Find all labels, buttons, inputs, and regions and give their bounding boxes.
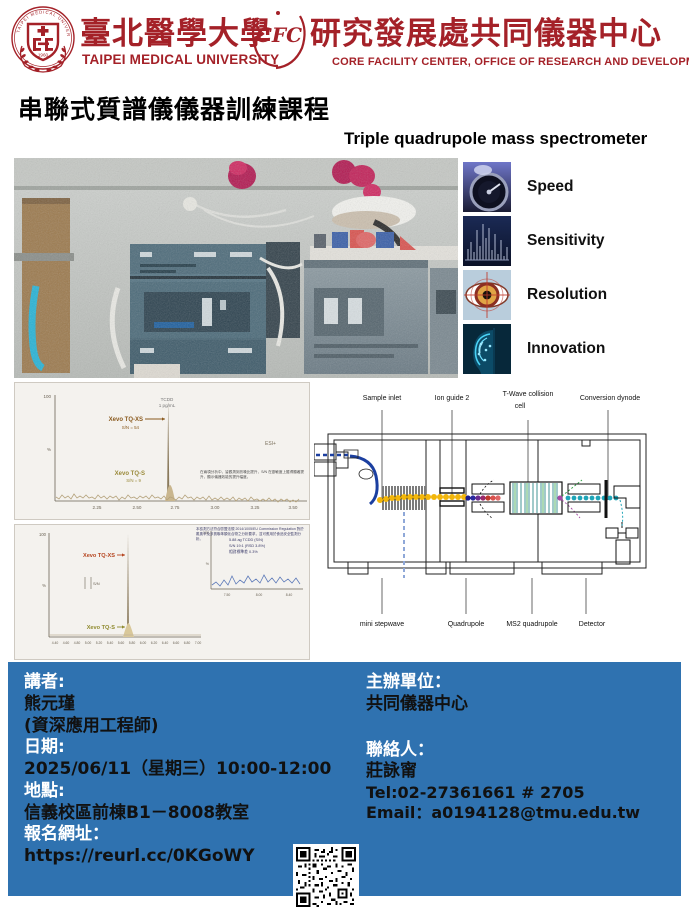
chrom2-xtick: 5.40: [107, 641, 114, 645]
organizer-label: 主辦單位：: [366, 672, 676, 694]
venue-value: 信義校區前棟B1－8008教室: [24, 803, 354, 825]
schematic-label-ion-guide-2: Ion guide 2: [435, 395, 470, 402]
center-name-cn: 研究發展處共同儀器中心: [310, 8, 662, 53]
brain-thumb-icon: [463, 324, 511, 374]
feature-label: Speed: [527, 178, 574, 196]
chrom-trace-lo-label: Xevo TQ-S: [115, 471, 145, 477]
spectrum-thumb-icon: [463, 216, 511, 266]
chrom-trace-hi-label: Xevo TQ-XS: [109, 417, 143, 423]
chrom2-xtick: 5.80: [129, 641, 136, 645]
chrom-y-top: 100: [43, 394, 51, 399]
event-info-left-column: 講者: 熊元瑾 (資深應用工程師) 日期: 2025/06/11（星期三）10:…: [24, 672, 354, 868]
feature-item-innovation: Innovation: [463, 322, 689, 376]
event-info-panel: 講者: 熊元瑾 (資深應用工程師) 日期: 2025/06/11（星期三）10:…: [8, 662, 681, 896]
speedometer-thumb-icon: [463, 162, 511, 212]
speaker-label: 講者:: [24, 672, 354, 694]
chrom-trace-hi-sn: S/N = 54: [122, 425, 140, 430]
speaker-role: (資深應用工程師): [24, 716, 354, 738]
contact-tel: Tel:02-27361661 # 2705: [366, 783, 676, 803]
chrom2-xtick: 5.00: [85, 641, 92, 645]
speaker-name: 熊元瑾: [24, 694, 354, 716]
page-subtitle: Triple quadrupole mass spectrometer: [344, 129, 647, 149]
registration-qr-code[interactable]: [293, 844, 359, 910]
chrom-xtick: 2.50: [133, 505, 142, 510]
date-label: 日期:: [24, 737, 354, 759]
chrom2-xtick: 6.00: [140, 641, 147, 645]
organizer-value: 共同儀器中心: [366, 694, 676, 716]
poster-header: TAIPEI MEDICAL UNIVERSITY 1960: [0, 0, 689, 82]
cfc-mark-text: CFC: [256, 23, 302, 47]
feature-label: Sensitivity: [527, 232, 605, 250]
chrom2-xtick: 5.60: [118, 641, 125, 645]
chrom2-y-mid: %: [42, 583, 46, 588]
feature-item-sensitivity: Sensitivity: [463, 214, 689, 268]
cfc-monogram-icon: CFC: [248, 10, 310, 72]
eye-thumb-icon: [463, 270, 511, 320]
date-value: 2025/06/11（星期三）10:00-12:00: [24, 759, 354, 781]
chrom2-xtick: 4.80: [74, 641, 81, 645]
venue-label: 地點:: [24, 781, 354, 803]
chrom-peak-label-1: TCDD: [161, 397, 174, 402]
chromatogram-note-top: 在兩項分析中，皆觀測到訊噪比提升，S/N 在靈敏度上獲得顯著提升，顯示儀器效能的…: [200, 470, 306, 512]
chrom2-xtick: 6.60: [173, 641, 180, 645]
chrom-peak-label-2: 1 pg/mL: [159, 403, 176, 408]
chrom2-xtick: 6.80: [184, 641, 191, 645]
center-name-en: CORE FACILITY CENTER, OFFICE OF RESEARCH…: [332, 56, 689, 68]
chrom2-xtick: 6.20: [151, 641, 158, 645]
chrom-mode-label: ESI+: [265, 441, 276, 447]
feature-label: Innovation: [527, 340, 605, 358]
feature-list: Speed: [463, 160, 689, 378]
chrom2-trace-lo-label: Xevo TQ-S: [87, 625, 116, 631]
chrom2-xtick: 4.40: [52, 641, 59, 645]
chrom2-xtick: 4.60: [63, 641, 70, 645]
contact-name: 莊詠甯: [366, 761, 676, 783]
contact-label: 聯絡人：: [366, 740, 676, 762]
chrom2-trace-hi-label: Xevo TQ-XS: [83, 553, 115, 559]
chromatogram-note-bottom: 本檢測方法符合歐盟法規 2014/1005/EU Commission Regu…: [196, 527, 304, 613]
feature-item-resolution: Resolution: [463, 268, 689, 322]
chrom-y-mid: %: [47, 447, 51, 452]
chrom2-xtick: 7.00: [195, 641, 202, 645]
mass-spectrometer-schematic: Sample inlet Ion guide 2 T-Wave collisio…: [314, 382, 686, 660]
schematic-label-ms2-quadrupole: MS2 quadrupole: [506, 621, 557, 628]
chrom-xtick: 2.25: [93, 505, 102, 510]
chrom2-xtick: 5.20: [96, 641, 103, 645]
contact-email[interactable]: Email：a0194128@tmu.edu.tw: [366, 803, 676, 823]
schematic-label-sample-inlet: Sample inlet: [363, 395, 402, 402]
schematic-label-detector: Detector: [579, 621, 606, 628]
schematic-label-quadrupole: Quadrupole: [448, 621, 485, 628]
page-title: 串聯式質譜儀儀器訓練課程: [18, 90, 330, 126]
laboratory-instrument-photo: [14, 158, 458, 378]
event-info-right-column: 主辦單位： 共同儀器中心 聯絡人： 莊詠甯 Tel:02-27361661 # …: [366, 672, 676, 824]
chrom-xtick: 2.75: [171, 505, 180, 510]
svg-text:cell: cell: [515, 403, 526, 410]
chrom-trace-lo-sn: S/N = 9: [126, 478, 141, 483]
schematic-label-mini-stepwave: mini stepwave: [360, 621, 404, 628]
feature-item-speed: Speed: [463, 160, 689, 214]
logo-year: 1960: [38, 53, 49, 58]
chrom2-xtick: 6.40: [162, 641, 169, 645]
chrom2-y-top: 100: [39, 532, 47, 537]
university-name-cn: 臺北醫學大學: [80, 8, 272, 53]
svg-text:T-Wave collision: T-Wave collision: [503, 391, 554, 398]
schematic-label-conversion-dynode: Conversion dynode: [580, 395, 640, 402]
register-label: 報名網址：: [24, 824, 354, 846]
tmu-crest-logo: TAIPEI MEDICAL UNIVERSITY 1960: [8, 4, 78, 76]
chrom2-sn-marker: S/N: [93, 581, 100, 586]
feature-label: Resolution: [527, 286, 607, 304]
